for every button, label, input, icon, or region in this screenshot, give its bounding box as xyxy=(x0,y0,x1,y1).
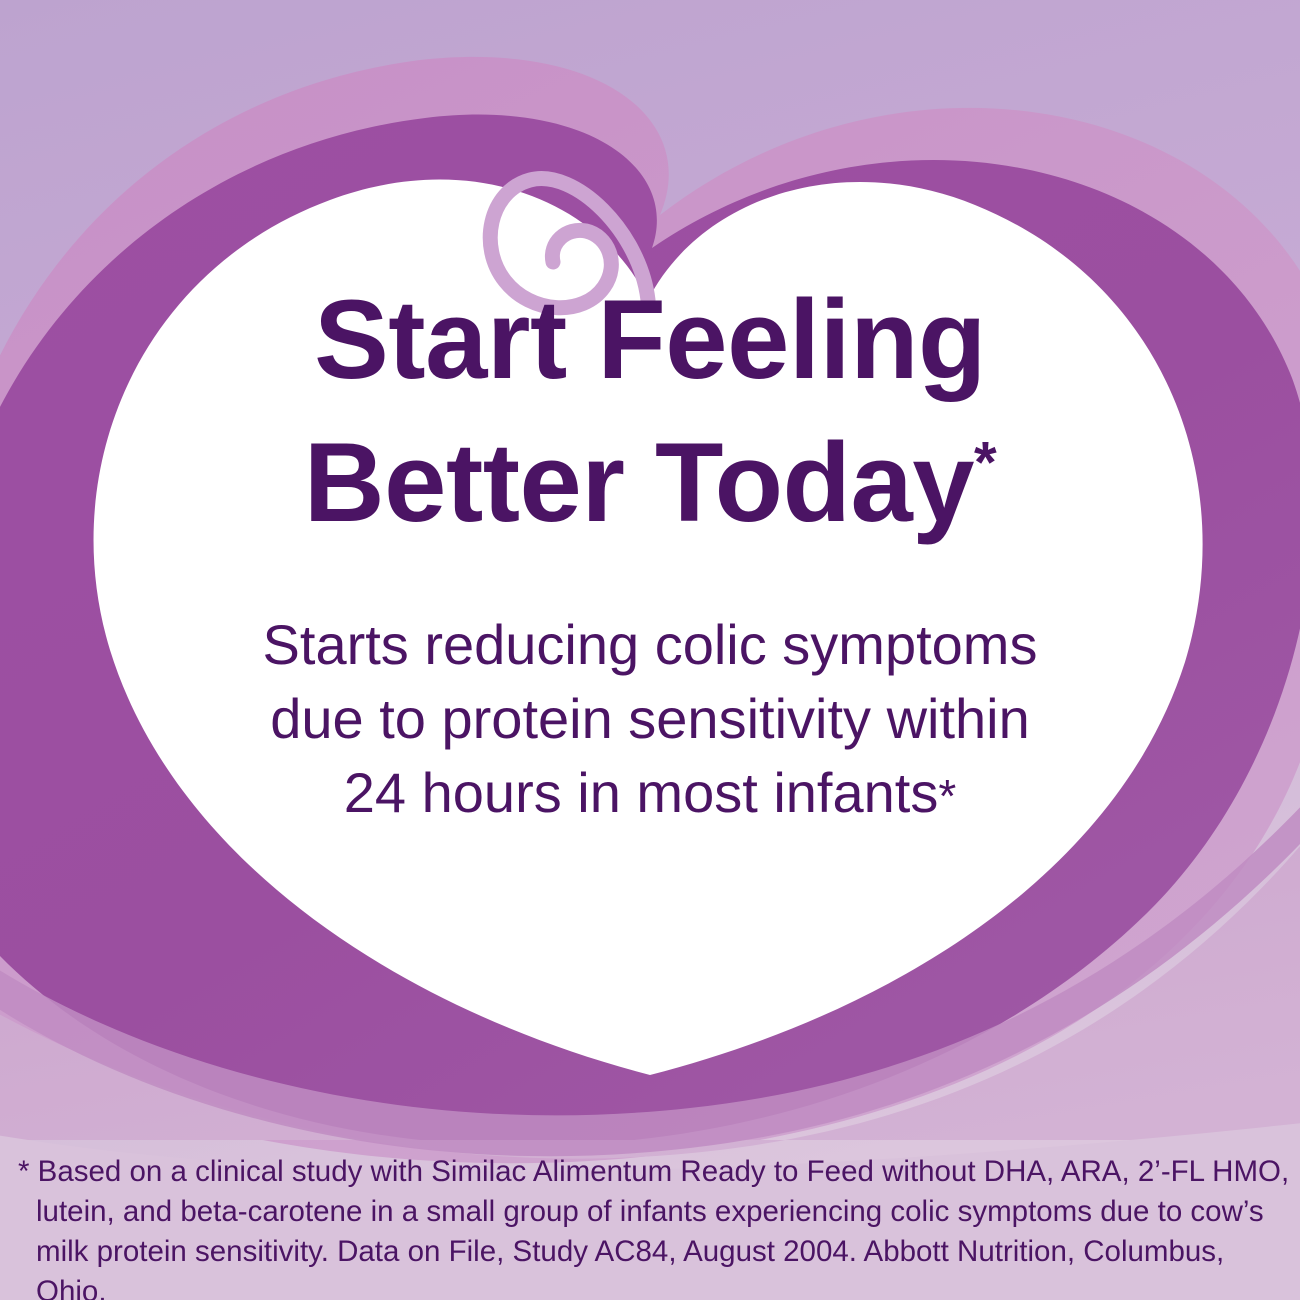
subheadline: Starts reducing colic symptoms due to pr… xyxy=(0,608,1300,830)
headline-line-1: Start Feeling xyxy=(0,268,1300,411)
subheadline-line-1: Starts reducing colic symptoms xyxy=(0,608,1300,682)
headline-line-2: Better Today* xyxy=(0,411,1300,554)
footnote-disclaimer: * Based on a clinical study with Similac… xyxy=(18,1152,1298,1300)
subheadline-line-2: due to protein sensitivity within xyxy=(0,682,1300,756)
subheadline-line-3-text: 24 hours in most infants xyxy=(344,761,939,824)
subheadline-line-3: 24 hours in most infants* xyxy=(0,756,1300,830)
headline-asterisk: * xyxy=(974,431,996,496)
headline: Start Feeling Better Today* xyxy=(0,268,1300,555)
headline-line-2-text: Better Today xyxy=(304,420,974,545)
subheadline-asterisk: * xyxy=(938,770,956,822)
promo-poster: Start Feeling Better Today* Starts reduc… xyxy=(0,0,1300,1300)
